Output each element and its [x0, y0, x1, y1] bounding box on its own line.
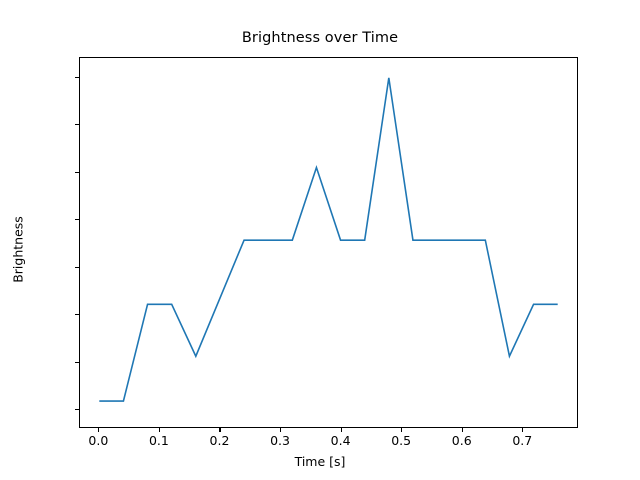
x-tick-label: 0.5 [391, 433, 411, 448]
y-axis-label: Brightness [11, 170, 26, 330]
matplotlib-figure: Brightness over Time Brightness Time [s]… [0, 0, 640, 480]
brightness-series-line [99, 78, 557, 401]
x-tick-mark [462, 428, 463, 432]
chart-title: Brightness over Time [0, 30, 640, 46]
x-tick-mark [401, 428, 402, 432]
x-tick-label: 0.0 [88, 433, 108, 448]
x-tick-mark [341, 428, 342, 432]
x-tick-mark [98, 428, 99, 432]
x-tick-label: 0.4 [331, 433, 351, 448]
x-axis-label: Time [s] [0, 454, 640, 469]
x-tick-label: 0.1 [149, 433, 169, 448]
x-tick-mark [522, 428, 523, 432]
x-tick-label: 0.7 [512, 433, 532, 448]
x-tick-label: 0.2 [210, 433, 230, 448]
x-tick-mark [159, 428, 160, 432]
data-line-svg [80, 58, 577, 427]
x-tick-label: 0.3 [270, 433, 290, 448]
x-tick-mark [280, 428, 281, 432]
x-tick-label: 0.6 [452, 433, 472, 448]
plot-area [79, 57, 578, 428]
x-tick-mark [219, 428, 220, 432]
